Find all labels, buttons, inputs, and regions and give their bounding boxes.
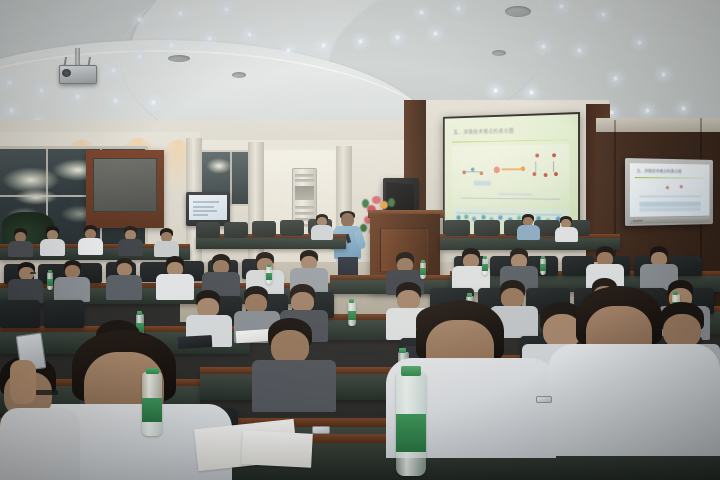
slide-title: 五、涉铁技术难点的表示图 xyxy=(453,126,548,139)
wall-display-panel xyxy=(93,158,157,212)
secondary-monitor-screen xyxy=(189,195,227,220)
ceiling-vent-1 xyxy=(168,55,190,62)
lecture-hall-scene: 五、涉铁技术难点的表示图 xyxy=(0,0,720,480)
wall-pillar-2 xyxy=(248,142,264,270)
tv-slide-title: 五、涉铁技术难点的表示图 xyxy=(637,169,699,176)
ceiling-vent-2 xyxy=(505,6,531,17)
smartphone-on-desk[interactable] xyxy=(536,396,552,403)
projector-lens-icon xyxy=(62,69,71,77)
ceiling-vent-4 xyxy=(232,72,246,78)
tv-slide-rule xyxy=(635,177,705,179)
ac-control-panel[interactable] xyxy=(295,186,314,200)
wall-mounted-tv: 五、涉铁技术难点的表示图 SHARP xyxy=(625,158,713,226)
slide-body xyxy=(452,144,569,208)
ceiling-vent-3 xyxy=(492,50,506,56)
tv-brand-label: SHARP xyxy=(633,219,643,223)
smartphone-on-desk[interactable] xyxy=(312,426,330,434)
presenter-head xyxy=(341,213,354,227)
tv-screen: 五、涉铁技术难点的表示图 xyxy=(630,163,710,217)
secondary-monitor xyxy=(186,192,230,226)
handout-paper[interactable] xyxy=(241,430,313,468)
slide-title-rule xyxy=(452,139,569,143)
